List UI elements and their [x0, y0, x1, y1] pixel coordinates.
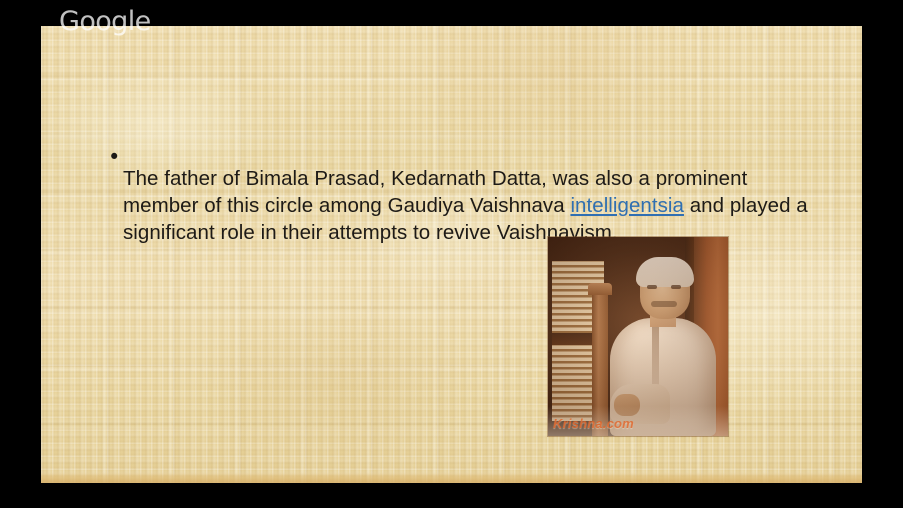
photo-source-watermark: Krishna.com [553, 416, 634, 431]
photo-figure-collar [652, 322, 659, 392]
photo-lintel-beam [548, 237, 728, 251]
photograph-scene [548, 237, 728, 436]
google-watermark: Google [59, 7, 151, 37]
slide-bottom-edge-band [41, 472, 862, 483]
presentation-slide: • The father of Bimala Prasad, Kedarnath… [41, 26, 862, 483]
photo-figure-left-eye [647, 285, 657, 289]
photo-wooden-post-cap [588, 283, 612, 295]
photo-figure-hand [614, 394, 640, 416]
photo-wooden-post [592, 289, 608, 436]
photo-figure-white-hair [636, 257, 694, 287]
video-letterbox-stage: • The father of Bimala Prasad, Kedarnath… [0, 0, 903, 508]
intelligentsia-hyperlink[interactable]: intelligentsia [570, 194, 684, 217]
bullet-point-icon: • [108, 144, 123, 171]
kedarnath-datta-photograph: Krishna.com [548, 237, 728, 436]
bullet-paragraph: The father of Bimala Prasad, Kedarnath D… [123, 165, 808, 246]
photo-figure-right-eye [671, 285, 681, 289]
photo-figure-moustache [651, 301, 677, 307]
